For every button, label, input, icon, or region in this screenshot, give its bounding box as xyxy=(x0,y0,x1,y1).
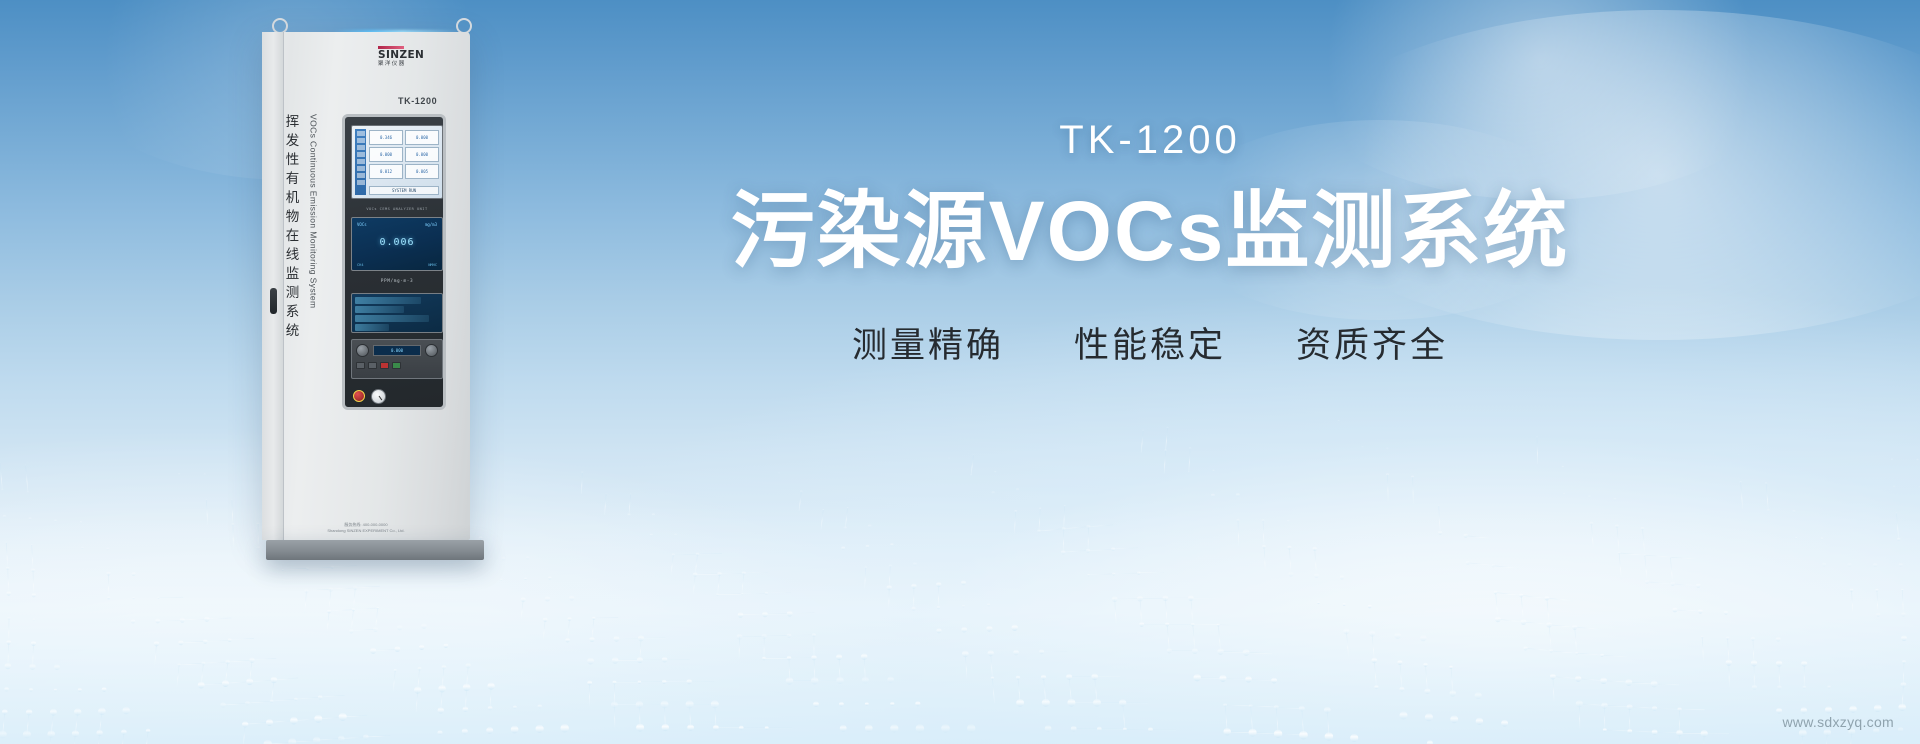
button-row xyxy=(356,362,438,369)
display-row xyxy=(355,315,429,322)
hmi-status-bar: SYSTEM RUN xyxy=(369,186,439,195)
display-row xyxy=(355,297,421,304)
banner-copy-block: TK-1200 污染源VOCs监测系统 测量精确 性能稳定 资质齐全 xyxy=(560,120,1740,368)
emergency-stop-icon[interactable] xyxy=(353,390,365,402)
analyzer-strip-label: VOCs CEMS ANALYZER UNIT xyxy=(353,207,441,211)
display-row xyxy=(355,324,389,331)
pressure-gauge-icon xyxy=(371,389,386,404)
feature-item: 资质齐全 xyxy=(1296,317,1448,368)
page-title: 污染源VOCs监测系统 xyxy=(560,186,1740,277)
gauge-area xyxy=(353,385,441,407)
lcd-head-left: VOCs xyxy=(357,222,367,227)
feature-item: 性能稳定 xyxy=(1074,317,1226,368)
secondary-display xyxy=(351,293,443,333)
lcd-foot-right: NMHC xyxy=(428,263,437,267)
cabinet-vertical-chinese-text: 挥发性有机物在线监测系统 xyxy=(284,114,298,342)
footer-company: Shandong SINZEN EXPERIMENT Co., Ltd. xyxy=(290,528,442,534)
model-number: TK-1200 xyxy=(560,120,1740,160)
lcd-value: 0.006 xyxy=(357,237,437,248)
feature-item: 测量精确 xyxy=(852,317,1004,368)
lcd-footer-row: CH4 NMHC xyxy=(357,263,437,267)
feature-list: 测量精确 性能稳定 资质齐全 xyxy=(560,317,1740,368)
brand-chinese-name: 聚洋仪器 xyxy=(378,62,424,68)
panel-button[interactable] xyxy=(368,362,377,369)
product-cabinet-image: SINZEN 聚洋仪器 TK-1200 挥发性有机物在线监测系统 VOCs Co… xyxy=(262,18,484,558)
lcd-header-row: VOCs mg/m3 xyxy=(357,222,437,227)
hmi-cell: 0.000 xyxy=(405,147,439,162)
hmi-cell: 0.000 xyxy=(405,130,439,145)
panel-button[interactable] xyxy=(356,362,365,369)
hmi-cell: 0.005 xyxy=(405,164,439,179)
brand-wordmark: SINZEN xyxy=(378,50,424,61)
product-banner: SINZEN 聚洋仪器 TK-1200 挥发性有机物在线监测系统 VOCs Co… xyxy=(0,0,1920,744)
rotary-knob-icon[interactable] xyxy=(425,344,438,357)
hmi-cell: 0.012 xyxy=(369,164,403,179)
cabinet-vertical-english-text: VOCs Continuous Emission Monitoring Syst… xyxy=(309,114,318,308)
display-row xyxy=(355,306,404,313)
unit-label: PPM/mg·m-3 xyxy=(353,279,441,284)
rotary-knob-icon[interactable] xyxy=(356,344,369,357)
control-readout: 0.000 xyxy=(373,345,421,356)
lcd-head-right: mg/m3 xyxy=(425,222,437,227)
main-lcd-display: VOCs mg/m3 0.006 CH4 NMHC xyxy=(351,217,443,271)
cabinet-footer-text: 服务热线: 400-000-0000 Shandong SINZEN EXPER… xyxy=(290,522,442,534)
cabinet-base-plinth xyxy=(266,540,484,560)
cabinet-model-label: TK-1200 xyxy=(398,96,437,106)
hmi-sidebar-menu[interactable] xyxy=(355,129,366,195)
lcd-foot-left: CH4 xyxy=(357,263,364,267)
brand-logo: SINZEN 聚洋仪器 xyxy=(378,46,424,68)
hmi-touchscreen[interactable]: 0.346 0.000 0.000 0.000 0.012 0.005 SYST… xyxy=(351,125,443,199)
control-row: 0.000 xyxy=(356,344,438,357)
panel-button-stop[interactable] xyxy=(380,362,389,369)
cabinet-side-panel xyxy=(262,32,284,540)
instrument-window: 0.346 0.000 0.000 0.000 0.012 0.005 SYST… xyxy=(342,114,446,410)
control-panel[interactable]: 0.000 xyxy=(351,339,443,379)
site-watermark: www.sdxzyq.com xyxy=(1782,714,1894,730)
hmi-readout-grid: 0.346 0.000 0.000 0.000 0.012 0.005 xyxy=(369,130,439,179)
hmi-cell: 0.346 xyxy=(369,130,403,145)
hmi-cell: 0.000 xyxy=(369,147,403,162)
panel-button-start[interactable] xyxy=(392,362,401,369)
cabinet-door-handle[interactable] xyxy=(270,288,277,314)
